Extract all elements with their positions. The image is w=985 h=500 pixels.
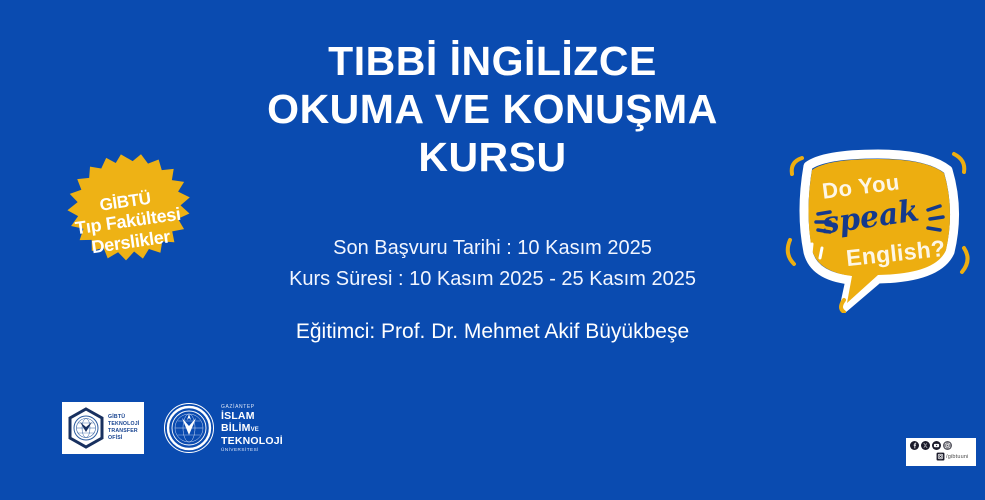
uni-line-4: ÜNİVERSİTESİ — [221, 447, 283, 452]
twitter-icon[interactable] — [921, 441, 930, 450]
tto-line-2: TEKNOLOJİ — [108, 421, 140, 428]
social-handle[interactable]: /gibtuuni — [946, 454, 969, 460]
youtube-icon[interactable] — [932, 441, 941, 450]
tto-wordmark: GİBTÜ TEKNOLOJİ TRANSFER OFİSİ — [108, 414, 140, 442]
social-handle-row[interactable]: /gibtuuni — [910, 452, 972, 461]
poster-canvas: TIBBİ İNGİLİZCE OKUMA VE KONUŞMA KURSU S… — [0, 0, 985, 500]
social-strip: /gibtuuni — [906, 438, 976, 466]
instructor-line: Eğitimci: Prof. Dr. Mehmet Akif Büyükbeş… — [0, 320, 985, 344]
uni-line-1: İSLAM — [221, 410, 283, 422]
uni-line-2-main: BİLİM — [221, 422, 251, 434]
facebook-icon[interactable] — [910, 441, 919, 450]
instagram-square-icon[interactable] — [936, 452, 945, 461]
university-wordmark: GAZİANTEP İSLAM BİLİMVE TEKNOLOJİ ÜNİVER… — [221, 404, 283, 452]
speech-bubble-icon — [778, 148, 978, 313]
tto-line-1: GİBTÜ — [108, 414, 140, 421]
university-seal-icon — [163, 402, 215, 454]
logo-university: GAZİANTEP İSLAM BİLİMVE TEKNOLOJİ ÜNİVER… — [163, 400, 293, 456]
uni-line-2-small: VE — [251, 427, 259, 433]
uni-line-3: TEKNOLOJİ — [221, 435, 283, 447]
tto-line-4: OFİSİ — [108, 435, 140, 442]
starburst-icon — [28, 152, 228, 292]
hexagon-globe-icon — [65, 407, 107, 449]
starburst-badge: GİBTÜ Tıp Fakültesi Derslikler — [28, 152, 228, 292]
tto-line-3: TRANSFER — [108, 428, 140, 435]
title-line-1: TIBBİ İNGİLİZCE — [0, 38, 985, 86]
speech-bubble: Do You speak English? — [778, 148, 978, 313]
social-icon-row — [910, 441, 972, 450]
title-line-2: OKUMA VE KONUŞMA — [0, 86, 985, 134]
logo-gibtu-tto: GİBTÜ TEKNOLOJİ TRANSFER OFİSİ — [62, 402, 144, 454]
uni-line-2: BİLİMVE — [221, 422, 283, 434]
instagram-icon[interactable] — [943, 441, 952, 450]
